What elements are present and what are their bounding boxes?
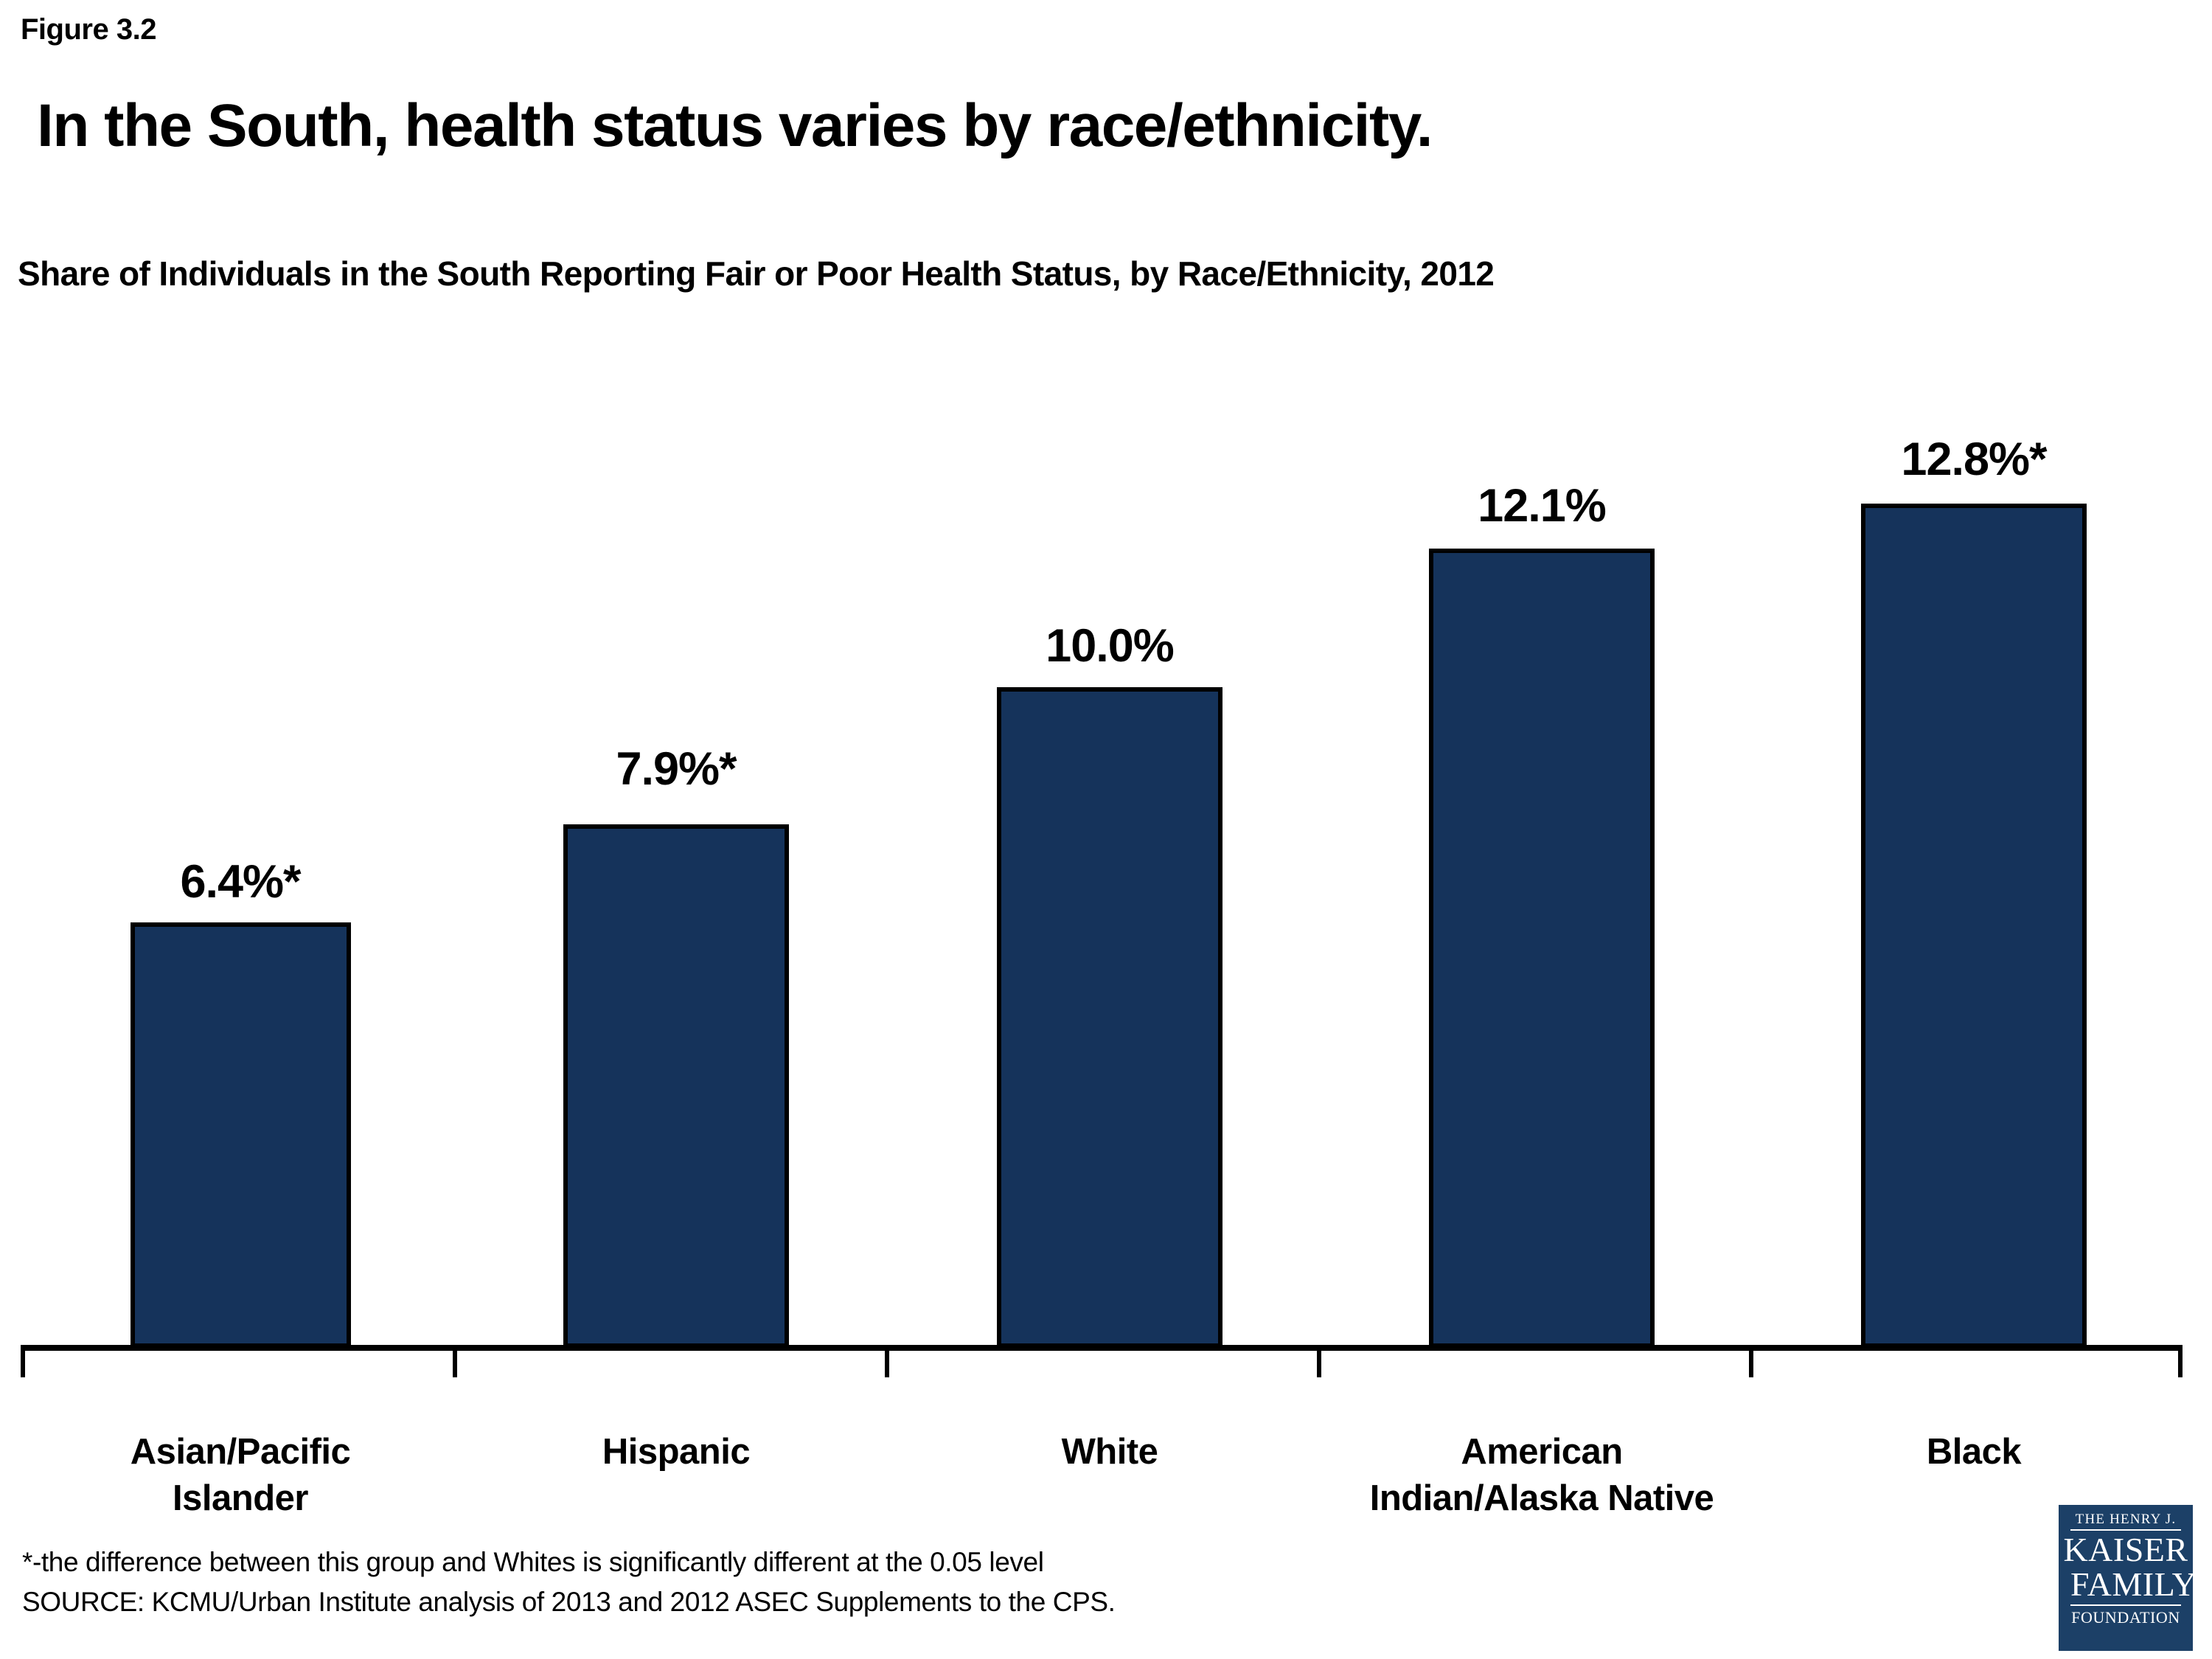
x-axis-tick xyxy=(1749,1351,1753,1377)
x-axis-label-line: American xyxy=(1343,1429,1741,1475)
x-axis-label-line: White xyxy=(947,1429,1272,1475)
x-axis-tick xyxy=(453,1351,457,1377)
logo-line-the-henry-j: THE HENRY J. xyxy=(2070,1512,2181,1531)
bar-american-indian-alaska-native[interactable] xyxy=(1429,549,1655,1348)
x-axis-tick xyxy=(1317,1351,1321,1377)
bar-value-label-hispanic: 7.9%* xyxy=(514,746,838,793)
logo-line-family: FAMILY xyxy=(2070,1568,2181,1606)
bar-value-label-asian-pacific-islander: 6.4%* xyxy=(78,859,403,905)
x-axis-label-line: Black xyxy=(1812,1429,2136,1475)
bar-value-label-white: 10.0% xyxy=(947,623,1272,669)
x-axis-label-line: Asian/Pacific xyxy=(78,1429,403,1475)
x-axis-label-hispanic: Hispanic xyxy=(514,1429,838,1475)
x-axis-label-line: Indian/Alaska Native xyxy=(1343,1475,1741,1522)
x-axis-label-american-indian-alaska-native: American Indian/Alaska Native xyxy=(1343,1429,1741,1521)
footnote-significance: *-the difference between this group and … xyxy=(22,1547,1044,1578)
x-axis-tick xyxy=(2178,1351,2183,1377)
footnote-source: SOURCE: KCMU/Urban Institute analysis of… xyxy=(22,1587,1116,1618)
plot-area: 6.4%* 7.9%* 10.0% 12.1% 12.8%* Asian/Pac… xyxy=(0,0,2212,1659)
x-axis-label-black: Black xyxy=(1812,1429,2136,1475)
kaiser-family-foundation-logo: THE HENRY J. KAISER FAMILY FOUNDATION xyxy=(2059,1505,2193,1651)
bar-hispanic[interactable] xyxy=(563,824,789,1348)
bar-value-label-american-indian-alaska-native: 12.1% xyxy=(1380,483,1704,529)
chart-canvas: Figure 3.2 In the South, health status v… xyxy=(0,0,2212,1659)
bar-asian-pacific-islander[interactable] xyxy=(131,922,351,1348)
bar-white[interactable] xyxy=(997,687,1222,1348)
bar-value-label-black: 12.8%* xyxy=(1812,437,2136,483)
x-axis-label-asian-pacific-islander: Asian/Pacific Islander xyxy=(78,1429,403,1521)
x-axis-label-line: Islander xyxy=(78,1475,403,1522)
x-axis-label-white: White xyxy=(947,1429,1272,1475)
logo-line-kaiser: KAISER xyxy=(2063,1533,2188,1568)
x-axis-tick xyxy=(21,1351,25,1377)
bar-black[interactable] xyxy=(1861,504,2087,1348)
logo-line-foundation: FOUNDATION xyxy=(2071,1610,2180,1626)
x-axis-tick xyxy=(885,1351,889,1377)
x-axis-label-line: Hispanic xyxy=(514,1429,838,1475)
